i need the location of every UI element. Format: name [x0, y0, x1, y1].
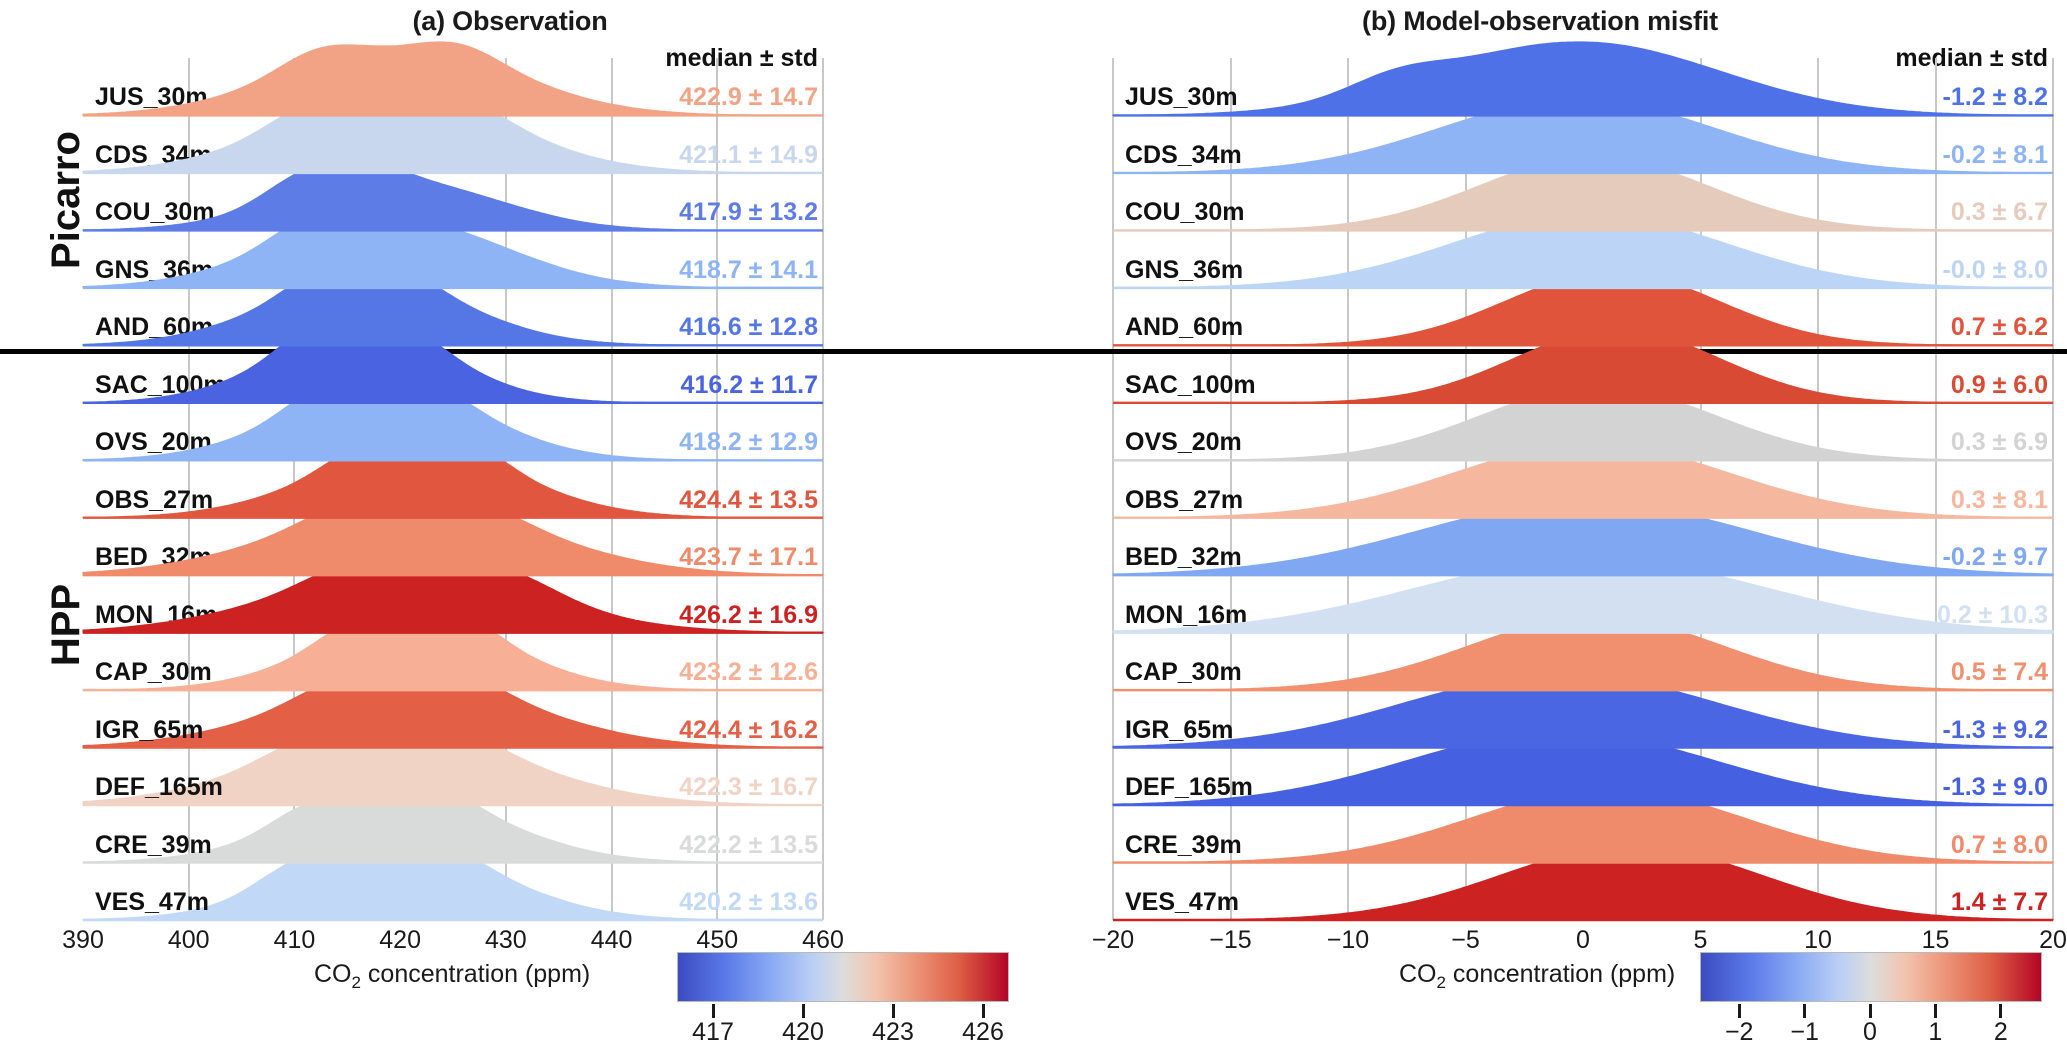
colorbar-label-a-1: 420: [758, 1018, 848, 1047]
xtick-b-3: −5: [1421, 926, 1511, 955]
axis-label-text-a: CO2 concentration (ppm): [314, 960, 590, 988]
colorbar-label-a-3: 426: [938, 1018, 1028, 1047]
xtick-b-2: −10: [1303, 926, 1393, 955]
colorbar-tick-b-4: [1999, 1004, 2002, 1018]
ridge-JUS_30m: [1113, 58, 2053, 924]
xtick-a-1: 400: [144, 926, 234, 955]
panel-b-axis-label: CO2 concentration (ppm): [1399, 960, 1675, 993]
axis-label-text-b: CO2 concentration (ppm): [1399, 960, 1675, 988]
colorbar-tick-a-1: [802, 1004, 805, 1018]
xtick-a-4: 430: [461, 926, 551, 955]
colorbar-tick-b-1: [1803, 1004, 1806, 1018]
xtick-b-7: 15: [1891, 926, 1981, 955]
colorbar-label-a-2: 423: [848, 1018, 938, 1047]
xtick-a-0: 390: [38, 926, 128, 955]
xtick-b-0: −20: [1068, 926, 1158, 955]
xtick-a-5: 440: [567, 926, 657, 955]
colorbar-tick-a-3: [982, 1004, 985, 1018]
colorbar-tick-b-0: [1738, 1004, 1741, 1018]
panel-a-title: (a) Observation: [130, 6, 890, 37]
xtick-b-8: 20: [2008, 926, 2067, 955]
colorbar-tick-b-2: [1869, 1004, 1872, 1018]
panel-a-plot: [83, 58, 823, 920]
xtick-b-5: 5: [1656, 926, 1746, 955]
panel-b-colorbar: [1700, 952, 2042, 1002]
xtick-a-3: 420: [355, 926, 445, 955]
ridge-JUS_30m: [83, 58, 823, 924]
colorbar-label-a-0: 417: [668, 1018, 758, 1047]
panel-b-title: (b) Model-observation misfit: [1160, 6, 1920, 37]
xtick-a-2: 410: [249, 926, 339, 955]
xtick-a-6: 450: [672, 926, 762, 955]
xtick-b-4: 0: [1538, 926, 1628, 955]
colorbar-label-b-4: 2: [1956, 1018, 2046, 1047]
panel-a-axis-label: CO2 concentration (ppm): [314, 960, 590, 993]
panel-a-colorbar: [677, 952, 1009, 1002]
xtick-b-6: 10: [1773, 926, 1863, 955]
colorbar-tick-a-0: [712, 1004, 715, 1018]
xtick-b-1: −15: [1186, 926, 1276, 955]
xtick-a-7: 460: [778, 926, 868, 955]
colorbar-tick-a-2: [892, 1004, 895, 1018]
colorbar-tick-b-3: [1934, 1004, 1937, 1018]
panel-b-plot: [1113, 58, 2053, 920]
